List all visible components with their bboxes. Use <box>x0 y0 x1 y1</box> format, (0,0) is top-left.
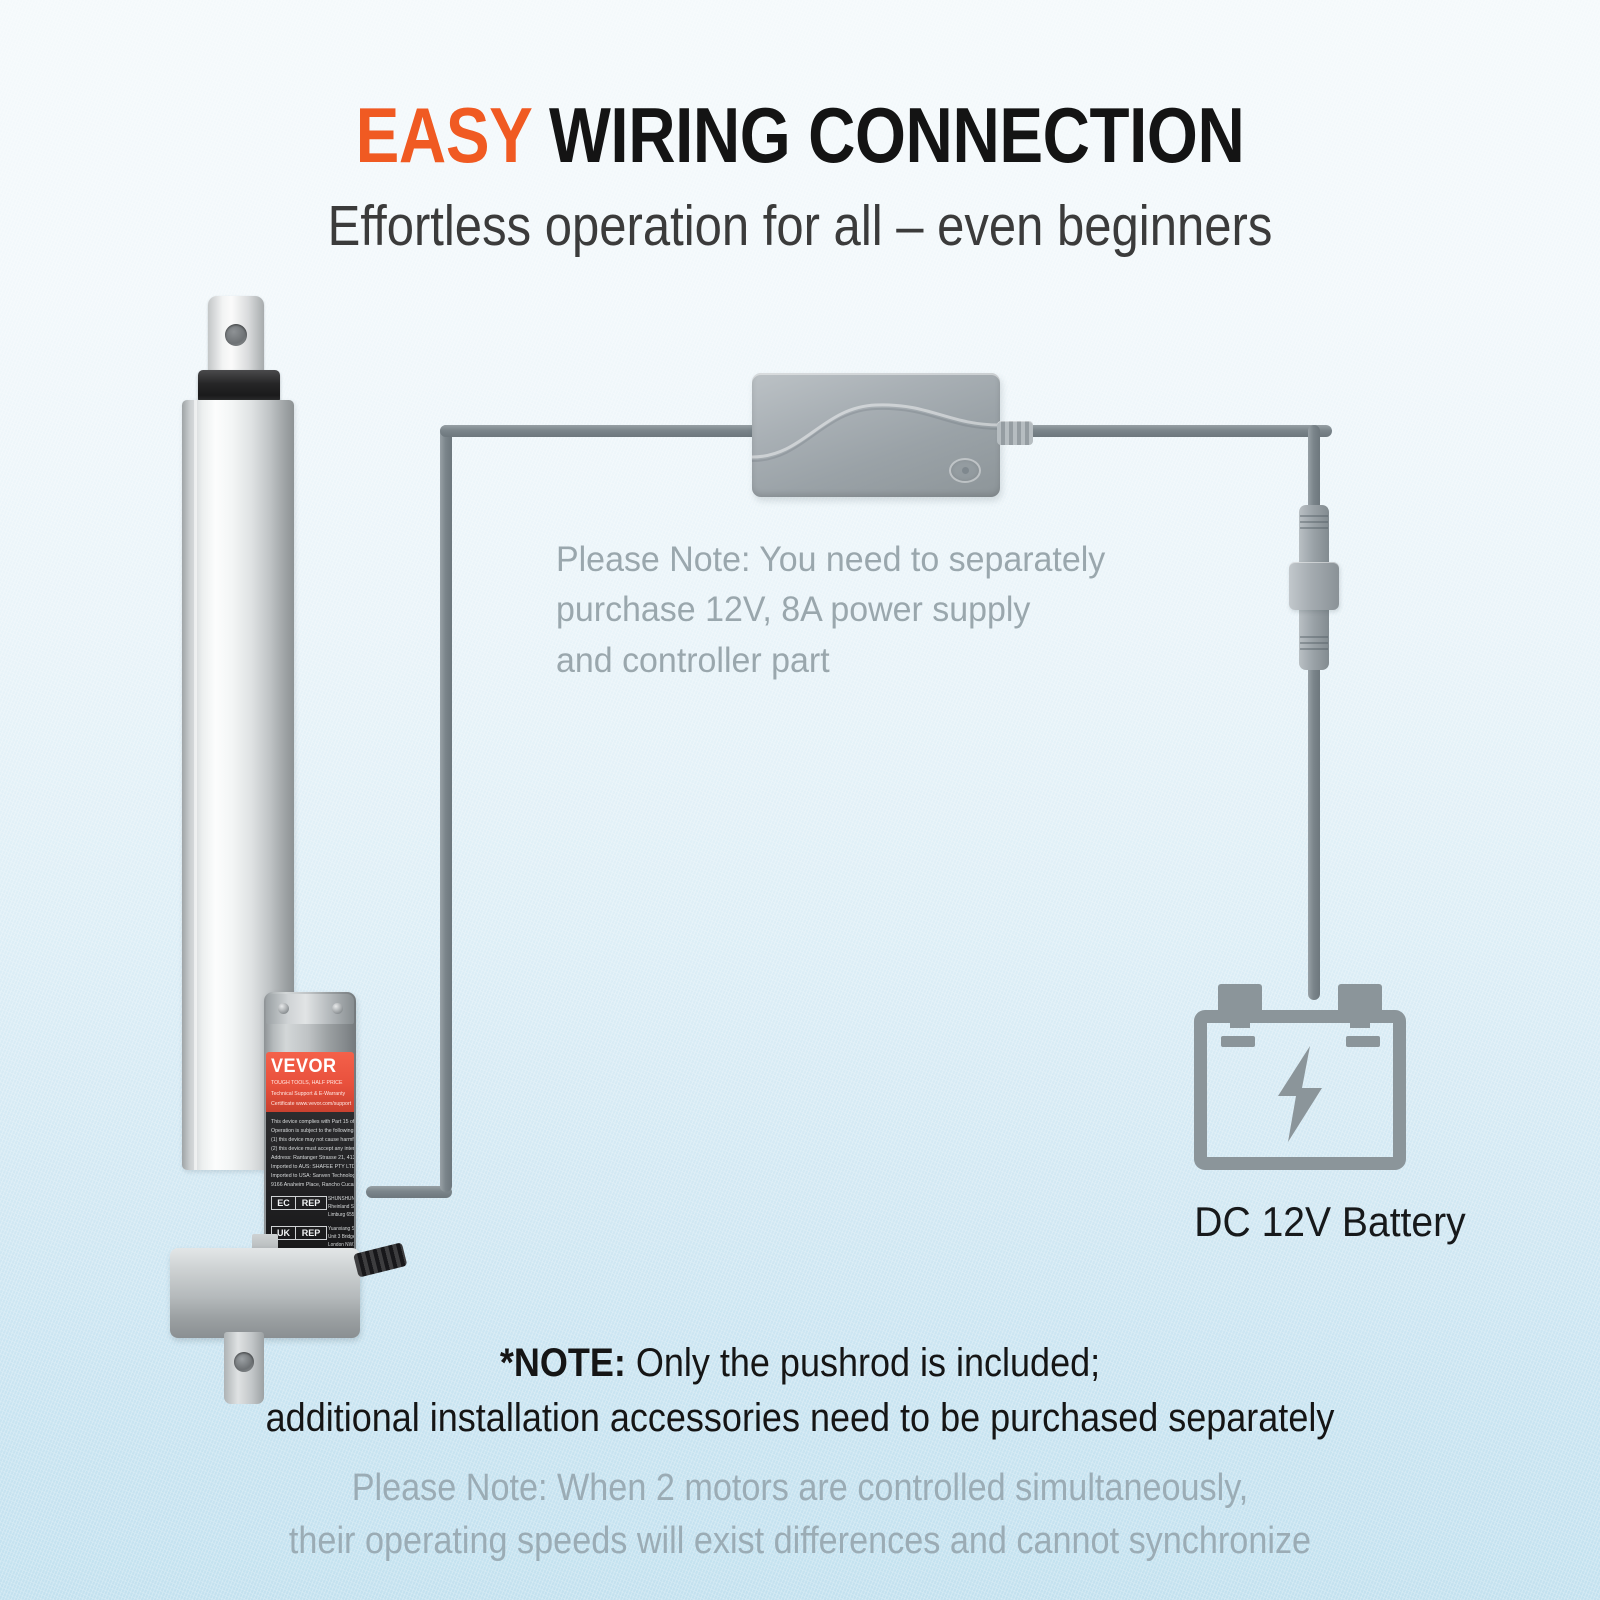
psu-strain-relief <box>997 421 1033 445</box>
actuator-rod-collar <box>198 370 280 404</box>
wire-right-vertical-lower <box>1308 652 1320 1000</box>
purchase-note-line-3: and controller part <box>556 636 1235 686</box>
page-subtitle: Effortless operation for all – even begi… <box>112 198 1488 255</box>
inclusion-note: *NOTE: Only the pushrod is included; add… <box>80 1336 1520 1446</box>
ec-rep-region: EC <box>272 1197 296 1209</box>
page-title-rest: WIRING CONNECTION <box>531 91 1244 179</box>
spec-line-2: (1) this device may not cause harmful in… <box>271 1136 354 1145</box>
ec-rep-detail-2: Rheinland Str. 11 <box>328 1204 354 1212</box>
vevor-product-label: VEVOR TOUGH TOOLS, HALF PRICE Technical … <box>266 1052 354 1264</box>
actuator-cable-strain-relief <box>353 1242 407 1277</box>
motor-end-cap <box>266 994 354 1024</box>
battery-terminal-mark-right <box>1346 1036 1380 1047</box>
spec-line-7: 9166 Anaheim Place, Rancho Cucamonga, CA… <box>271 1181 354 1190</box>
ec-rep-detail-1: SHUNSHUN GmbH <box>328 1196 354 1204</box>
purchase-note-line-1: Please Note: You need to separately <box>556 535 1235 585</box>
wire-left-vertical <box>440 425 452 1192</box>
car-battery-icon <box>1194 984 1406 1170</box>
motor-screw-left <box>278 1003 289 1014</box>
support-line-2: Certificate www.vevor.com/support <box>271 1100 351 1108</box>
wire-top-to-psu <box>440 425 760 437</box>
uk-rep-detail-2: Unit 3 Bridge Road <box>328 1234 354 1242</box>
connector-collar <box>1289 562 1339 610</box>
uk-rep-detail-1: Yuanxiang Shangmao <box>328 1226 354 1234</box>
sync-note: Please Note: When 2 motors are controlle… <box>80 1462 1520 1568</box>
inclusion-note-rest: Only the pushrod is included; <box>626 1341 1100 1385</box>
uk-rep-role: REP <box>296 1227 326 1239</box>
inclusion-note-bold: *NOTE: <box>500 1341 626 1385</box>
brand-name: VEVOR <box>271 1056 337 1078</box>
linear-actuator-product: VEVOR TOUGH TOOLS, HALF PRICE Technical … <box>160 296 420 1296</box>
uk-rep-box: UK REP <box>271 1226 327 1240</box>
dc-barrel-connector <box>1286 505 1342 670</box>
spec-line-4: Address: Rantanger Strasse 21, 41334 Net… <box>271 1154 354 1163</box>
actuator-rod-mount-hole <box>225 324 247 346</box>
power-led-indicator <box>949 458 981 483</box>
spec-line-1: Operation is subject to the following tw… <box>271 1127 354 1136</box>
battery-terminal-mark-left <box>1221 1036 1255 1047</box>
infographic-canvas: EASY WIRING CONNECTION Effortless operat… <box>0 0 1600 1600</box>
inclusion-note-line-2: additional installation accessories need… <box>80 1391 1520 1446</box>
spec-line-5: Imported to AUS: SHAFEE PTY LTD, Sydney … <box>271 1163 354 1172</box>
ec-rep-role: REP <box>296 1197 326 1209</box>
page-title-accent: EASY <box>356 91 532 179</box>
purchase-note: Please Note: You need to separately purc… <box>556 535 1235 686</box>
lightning-bolt-icon <box>1268 1046 1332 1142</box>
motor-screw-right <box>332 1003 343 1014</box>
wire-right-vertical-upper <box>1308 425 1320 517</box>
actuator-base-housing <box>170 1248 360 1338</box>
inclusion-note-line-1: *NOTE: Only the pushrod is included; <box>80 1336 1520 1391</box>
page-title: EASY WIRING CONNECTION <box>128 96 1472 174</box>
brand-tagline: TOUGH TOOLS, HALF PRICE <box>271 1079 342 1087</box>
wire-psu-to-right <box>1020 425 1332 437</box>
purchase-note-line-2: purchase 12V, 8A power supply <box>556 585 1235 635</box>
spec-line-0: This device complies with Part 15 of the… <box>271 1118 354 1127</box>
support-line-1: Technical Support & E-Warranty <box>271 1090 345 1098</box>
power-supply-brick <box>752 373 1000 497</box>
ec-rep-box: EC REP <box>271 1196 327 1210</box>
spec-line-6: Imported to USA: Sanven Technology Ltd.,… <box>271 1172 354 1181</box>
spec-line-3: (2) this device must accept any interfer… <box>271 1145 354 1154</box>
ec-rep-detail-3: Limburg 65549, DE <box>328 1212 354 1220</box>
sync-note-line-2: their operating speeds will exist differ… <box>80 1515 1520 1568</box>
battery-label: DC 12V Battery <box>1042 1198 1600 1246</box>
sync-note-line-1: Please Note: When 2 motors are controlle… <box>80 1462 1520 1515</box>
